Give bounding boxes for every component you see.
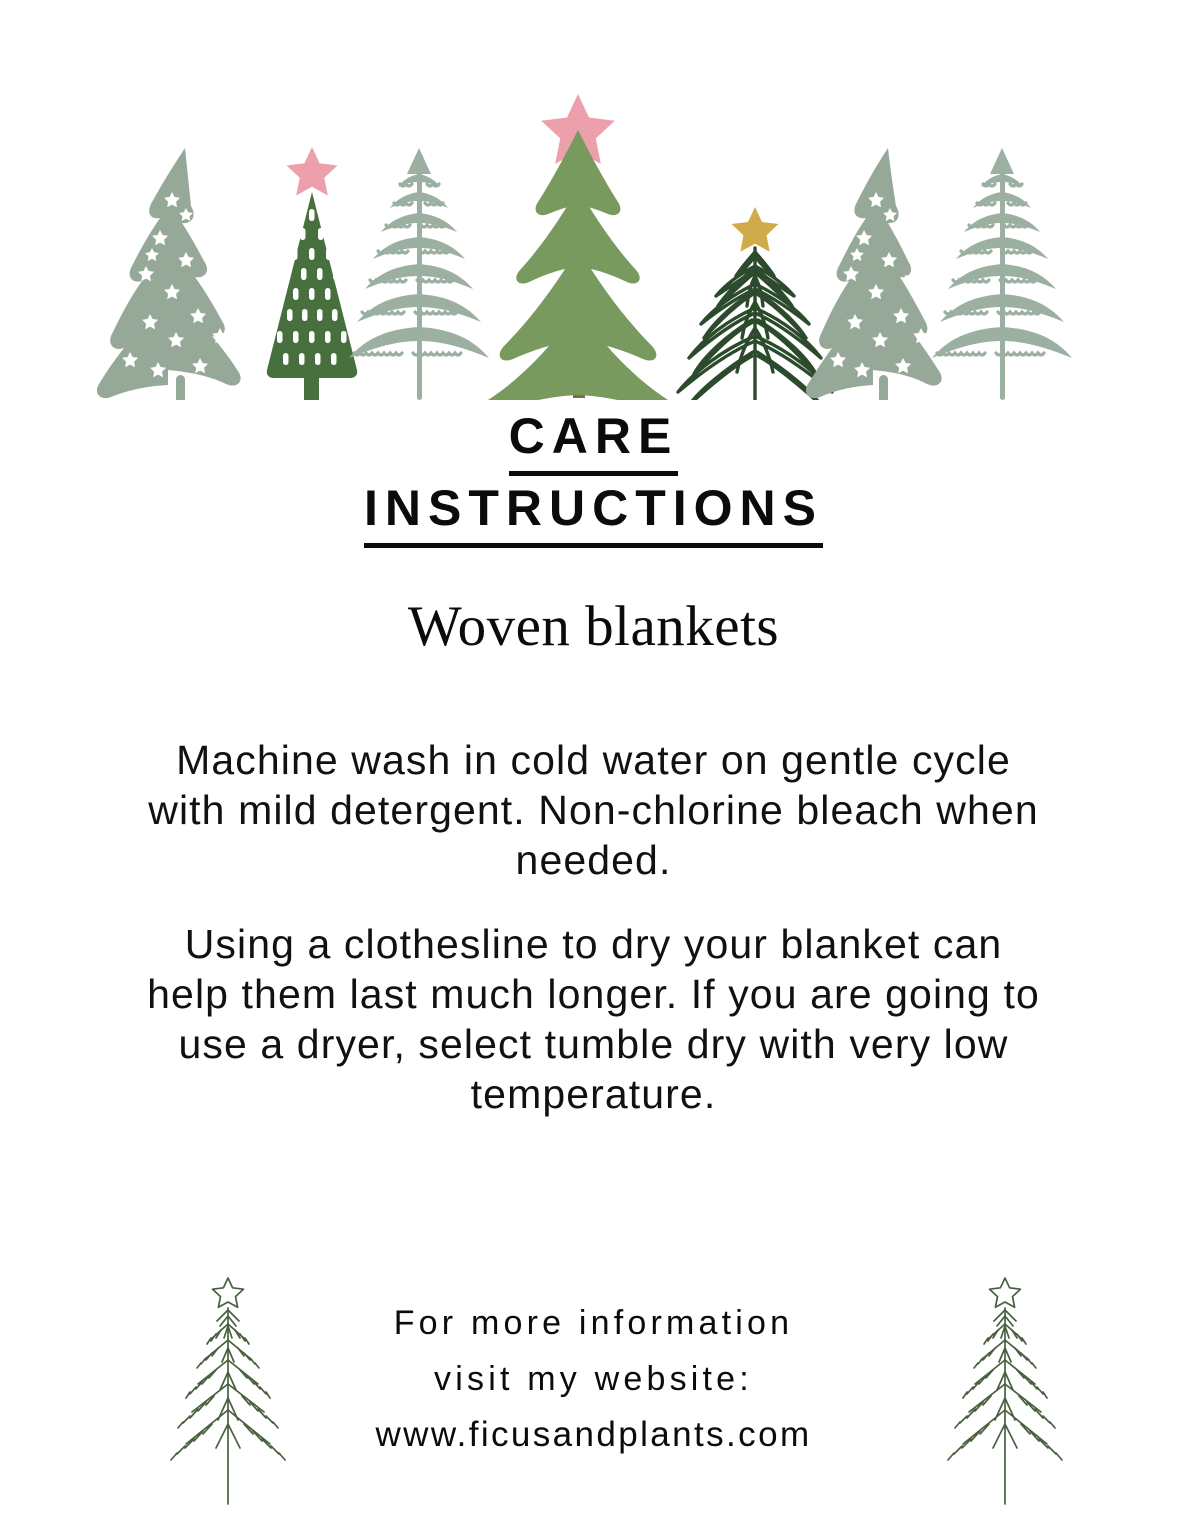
header-tree-sage-star-dot-icon [97, 148, 241, 400]
header-tree-forest-dash-icon [267, 147, 357, 400]
header-tree-sage-layered-fir-2-icon [932, 148, 1072, 400]
product-subtitle: Woven blankets [0, 592, 1187, 662]
footer-contact-block: For more information visit my website: w… [0, 1295, 1187, 1463]
header-tree-sage-layered-fir-icon [349, 148, 489, 400]
footer-website-url: www.ficusandplants.com [0, 1407, 1187, 1463]
title-line-2-text: INSTRUCTIONS [364, 476, 823, 548]
footer-line-1: For more information [0, 1295, 1187, 1351]
header-tree-band [0, 70, 1187, 400]
title-line-1: CARE [0, 404, 1187, 476]
footer-line-2: visit my website: [0, 1351, 1187, 1407]
title-line-2: INSTRUCTIONS [0, 476, 1187, 548]
care-instructions-page: CARE INSTRUCTIONS Woven blankets Machine… [0, 0, 1187, 1534]
header-tree-sage-star-dot-2-icon [806, 148, 942, 400]
care-paragraph-washing: Machine wash in cold water on gentle cyc… [140, 735, 1047, 885]
header-tree-olive-large-icon [483, 94, 674, 400]
title-line-1-text: CARE [509, 404, 679, 476]
header-tree-dark-sketch-icon [678, 207, 832, 400]
star-gold-icon [732, 207, 779, 252]
care-paragraph-drying: Using a clothesline to dry your blanket … [140, 919, 1047, 1119]
star-pink-icon [287, 147, 338, 196]
page-title: CARE INSTRUCTIONS [0, 404, 1187, 548]
care-instructions-body: Machine wash in cold water on gentle cyc… [140, 735, 1047, 1119]
